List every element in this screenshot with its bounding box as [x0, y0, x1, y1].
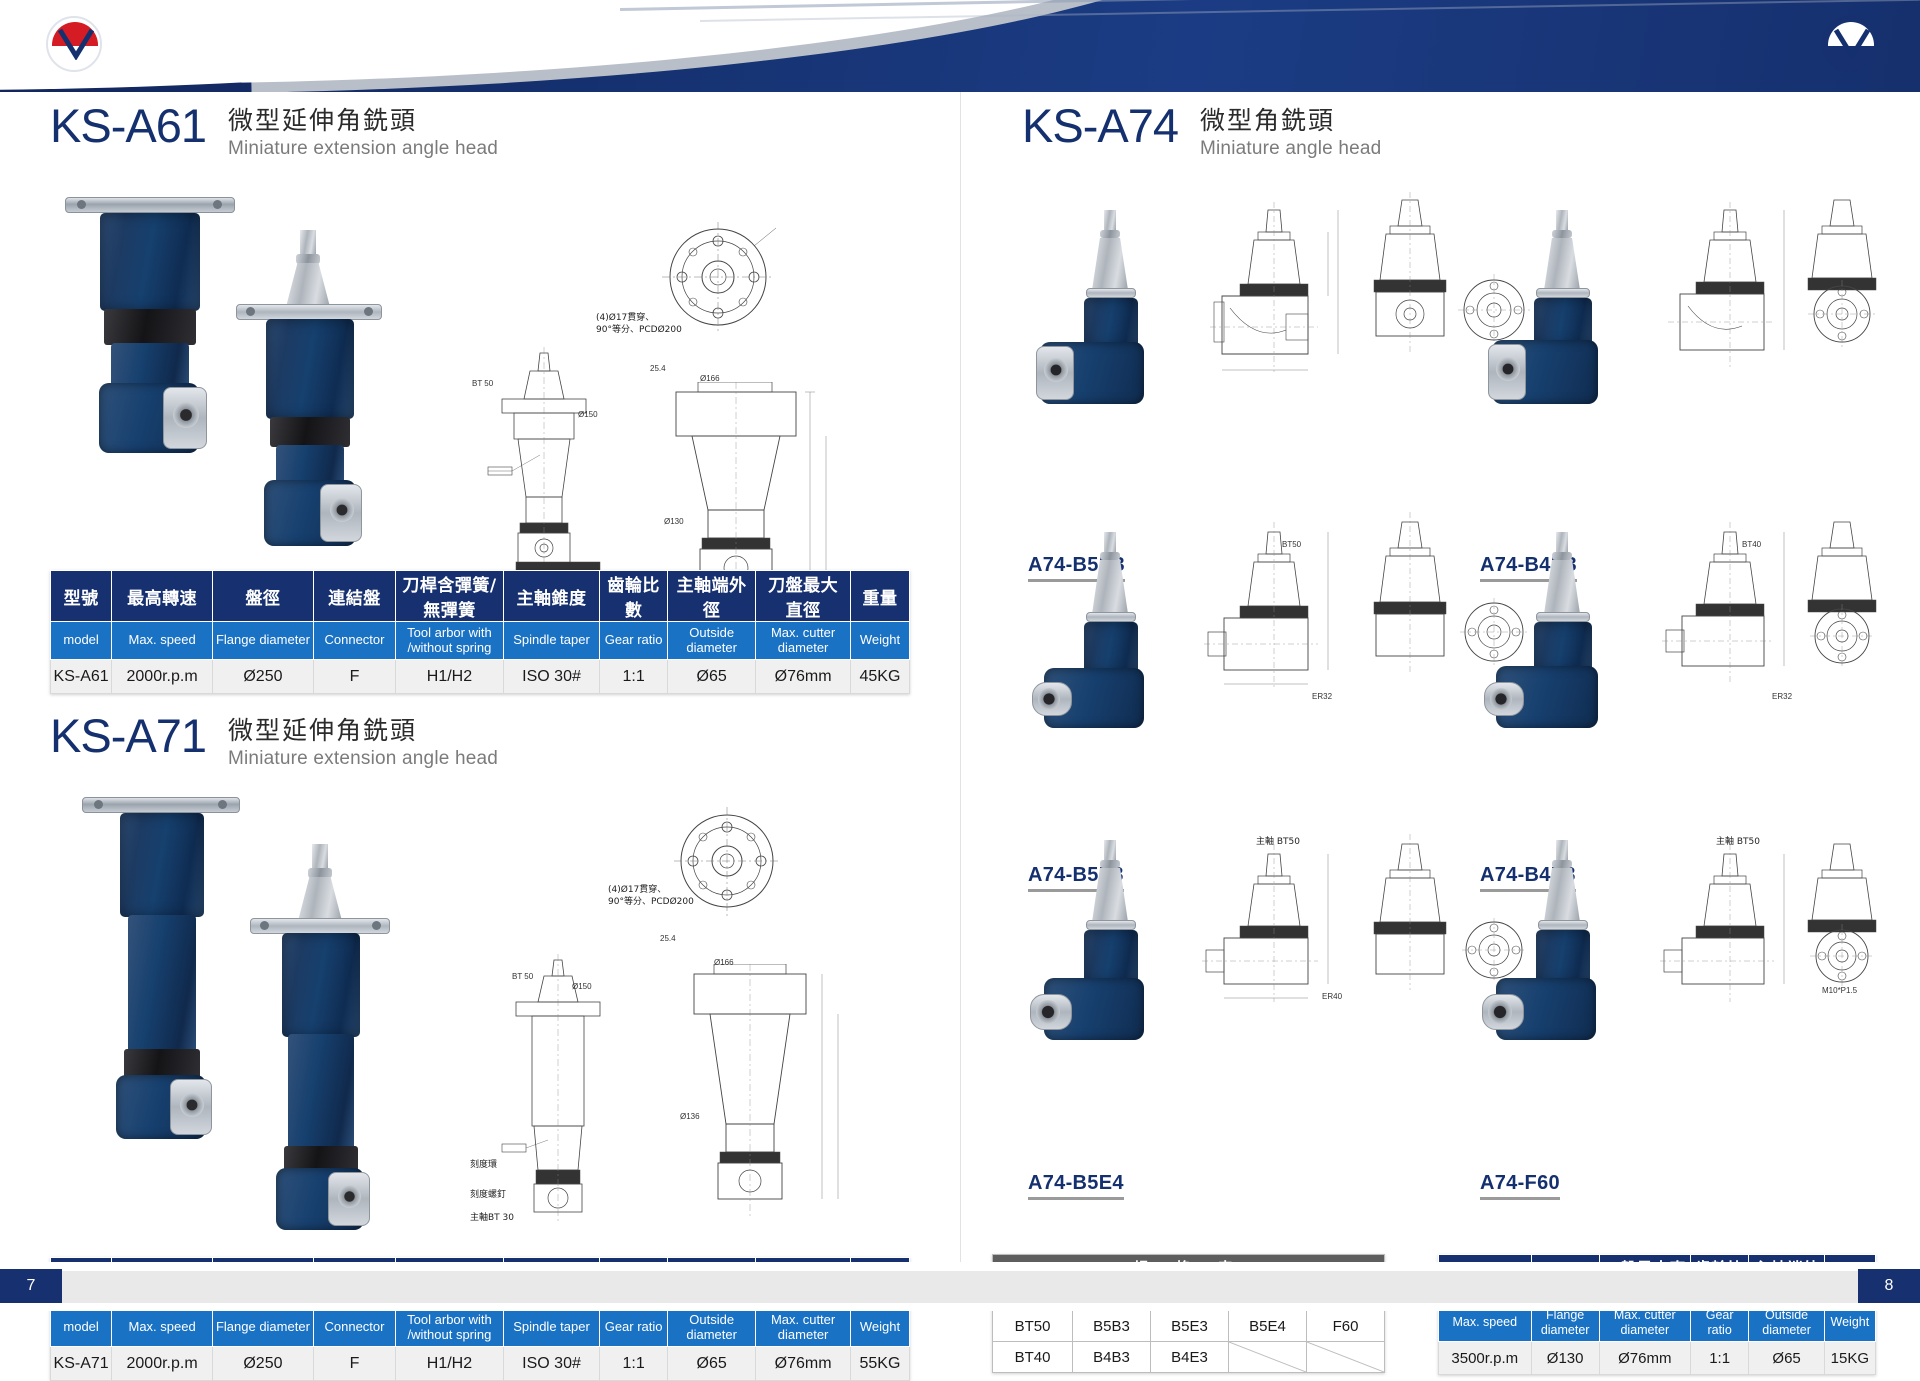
- drawing-a74-f60-dims: [1660, 830, 1800, 1080]
- th-toolarbor-en: Tool arbor with /without spring: [396, 1309, 504, 1347]
- left-page: KS-A61 微型延伸角銑頭 Miniature extension angle…: [0, 92, 960, 1311]
- th-gear-cn: 齒輪比數: [600, 571, 668, 622]
- th-toolarbor-en: Tool arbor with /without spring: [396, 622, 504, 660]
- drawing-a71-elevation: [674, 964, 854, 1239]
- drawing-note-hole-2: 90°等分、PCDØ200: [608, 894, 694, 907]
- td-gear: 1:1: [600, 660, 668, 694]
- td-flange: Ø250: [212, 660, 313, 694]
- product-name-en: Miniature angle head: [1200, 138, 1381, 160]
- th-flange-cn: 盤徑: [212, 571, 313, 622]
- product-name-cn: 微型延伸角銑頭: [228, 105, 498, 136]
- th-flange-en: Flange diameter: [212, 622, 313, 660]
- grid-cell-b4b3: B4B3: [1073, 1342, 1151, 1373]
- th-outside-cn: 主軸端外徑: [668, 571, 756, 622]
- th-flange-en: Flange diameter: [212, 1309, 313, 1347]
- td-cutter: Ø76mm: [756, 1347, 851, 1381]
- drawing-note-main-bt50: 主軸 BT50: [1716, 834, 1760, 847]
- td-weight: 45KG: [850, 660, 909, 694]
- th-taper-en: Spindle taper: [503, 1309, 599, 1347]
- td-cutter: Ø76mm: [1599, 1342, 1690, 1375]
- drawing-a74-b5e3-dims: [1200, 522, 1350, 772]
- grid-row-input-bt50: BT50: [993, 1311, 1073, 1342]
- product-code: KS-A71: [50, 712, 206, 759]
- company-logo: [46, 16, 102, 72]
- page-number-left: 7: [0, 1269, 62, 1303]
- grid-cell-b4e3: B4E3: [1151, 1342, 1229, 1373]
- grid-row-input-bt40: BT40: [993, 1342, 1073, 1373]
- product-name-cn: 微型延伸角銑頭: [228, 715, 498, 746]
- product-name-cn: 微型角銑頭: [1200, 105, 1381, 136]
- model-label-a74-b5e4: A74-B5E4: [1028, 1172, 1124, 1200]
- spec-table-ks-a61: 型號 最高轉速 盤徑 連結盤 刀桿含彈簧/無彈簧 主軸錐度 齒輪比數 主軸端外徑…: [50, 570, 910, 694]
- td-toolarbor: H1/H2: [396, 1347, 504, 1381]
- grid-cell-empty-1: [1229, 1342, 1307, 1373]
- drawing-dim-254: 25.4: [650, 364, 666, 373]
- td-gear: 1:1: [1690, 1342, 1749, 1375]
- drawing-label-bt50: BT50: [1282, 540, 1301, 549]
- td-cutter: Ø76mm: [756, 660, 851, 694]
- drawing-label-bt50: BT 50: [512, 972, 533, 981]
- th-connector-en: Connector: [313, 622, 395, 660]
- product-name-en: Miniature extension angle head: [228, 138, 498, 160]
- th-outside-en: Outside diameter: [668, 622, 756, 660]
- model-photo-a74-b5e4: [1000, 820, 1210, 1100]
- model-photo-a74-b4b3: [1452, 192, 1662, 472]
- th-maxspeed-en: Max. speed: [112, 622, 213, 660]
- model-photo-a74-f60: [1452, 820, 1662, 1100]
- drawing-label-bt40: BT40: [1742, 540, 1761, 549]
- drawing-note-adjust-screw: 刻度螺釘: [470, 1187, 506, 1200]
- model-photo-a74-b4e3: [1452, 512, 1662, 792]
- model-label-a74-f60: A74-F60: [1480, 1172, 1560, 1200]
- td-flange: Ø130: [1531, 1342, 1599, 1375]
- drawing-a71-section: [492, 954, 652, 1244]
- th-cutter-cn: 刀盤最大直徑: [756, 571, 851, 622]
- td-model: KS-A61: [51, 660, 112, 694]
- drawing-a74-b4e3-views: [1798, 512, 1920, 792]
- th-gear-en: Gear ratio: [600, 1309, 668, 1347]
- drawing-label-er32: ER32: [1772, 692, 1792, 701]
- drawing-note-main-bt50: 主軸 BT50: [1256, 834, 1300, 847]
- logo-check-icon: [1833, 26, 1871, 60]
- drawing-a74-b4e3-dims: [1660, 522, 1800, 772]
- th-taper-cn: 主軸錐度: [503, 571, 599, 622]
- table-row: KS-A61 2000r.p.m Ø250 F H1/H2 ISO 30# 1:…: [51, 660, 910, 694]
- product-name-en: Miniature extension angle head: [228, 748, 498, 770]
- right-page: KS-A74 微型角銑頭 Miniature angle head: [960, 92, 1920, 1311]
- th-maxspeed-cn: 最高轉速: [112, 571, 213, 622]
- top-banner: [0, 0, 1920, 92]
- page-number-right: 8: [1858, 1269, 1920, 1303]
- drawing-a74-b5e4-dims: [1200, 830, 1350, 1080]
- th-weight-cn: 重量: [850, 571, 909, 622]
- th-weight-en: Weight: [850, 622, 909, 660]
- drawing-a74-f60-views: [1798, 820, 1920, 1100]
- product-photo-a61-front: [55, 197, 245, 507]
- table-row: KS-A71 2000r.p.m Ø250 F H1/H2 ISO 30# 1:…: [51, 1347, 910, 1381]
- footer-strip: [62, 1271, 1858, 1303]
- td-flange: Ø250: [212, 1347, 313, 1381]
- product-photo-a61-side: [218, 230, 408, 570]
- drawing-note-scale-ring: 刻度環: [470, 1157, 497, 1170]
- td-maxspeed: 2000r.p.m: [112, 1347, 213, 1381]
- table-row: BT40 B4B3 B4E3: [993, 1342, 1385, 1373]
- td-connector: F: [313, 1347, 395, 1381]
- th-gear-en: Gear ratio: [600, 622, 668, 660]
- table-row: 3500r.p.m Ø130 Ø76mm 1:1 Ø65 15KG: [1439, 1342, 1876, 1375]
- drawing-dim-d130: Ø130: [664, 517, 684, 526]
- td-weight: 55KG: [850, 1347, 909, 1381]
- product-photo-a71-side: [232, 844, 422, 1234]
- product-code: KS-A74: [1022, 102, 1178, 149]
- th-model-en: model: [51, 622, 112, 660]
- td-outside: Ø65: [668, 1347, 756, 1381]
- th-connector-cn: 連結盤: [313, 571, 395, 622]
- td-outside: Ø65: [668, 660, 756, 694]
- td-weight: 15KG: [1824, 1342, 1875, 1375]
- table-row: BT50 B5B3 B5E3 B5E4 F60: [993, 1311, 1385, 1342]
- table-header-row-en: model Max. speed Flange diameter Connect…: [51, 622, 910, 660]
- th-model-en: model: [51, 1309, 112, 1347]
- model-photo-a74-b5b3: [1000, 192, 1210, 472]
- model-photo-a74-b5e3: [1000, 512, 1210, 792]
- grid-cell-b5e3: B5E3: [1151, 1311, 1229, 1342]
- product-title-ks-a74: KS-A74 微型角銑頭 Miniature angle head: [1022, 102, 1381, 160]
- drawing-dim-254: 25.4: [660, 934, 676, 943]
- th-cutter-en: Max. cutter diameter: [756, 622, 851, 660]
- drawing-a74-b4b3-views: [1798, 192, 1920, 472]
- th-weight-en: Weight: [850, 1309, 909, 1347]
- td-taper: ISO 30#: [503, 660, 599, 694]
- drawing-dim-d136: Ø136: [680, 1112, 700, 1121]
- footer: 7 8: [0, 1262, 1920, 1311]
- drawing-label-er32: ER32: [1312, 692, 1332, 701]
- th-model-cn: 型號: [51, 571, 112, 622]
- drawing-dim-d166: Ø166: [700, 374, 720, 383]
- th-maxspeed-en: Max. speed: [112, 1309, 213, 1347]
- table-header-row-cn: 型號 最高轉速 盤徑 連結盤 刀桿含彈簧/無彈簧 主軸錐度 齒輪比數 主軸端外徑…: [51, 571, 910, 622]
- td-maxspeed: 3500r.p.m: [1439, 1342, 1532, 1375]
- drawing-dim-d166: Ø166: [714, 958, 734, 967]
- drawing-a74-b4b3-dims: [1660, 202, 1800, 452]
- drawing-label-er40: ER40: [1322, 992, 1342, 1001]
- product-title-ks-a71: KS-A71 微型延伸角銑頭 Miniature extension angle…: [50, 712, 498, 770]
- grid-cell-empty-2: [1307, 1342, 1385, 1373]
- th-outside-en: Outside diameter: [668, 1309, 756, 1347]
- td-toolarbor: H1/H2: [396, 660, 504, 694]
- th-connector-en: Connector: [313, 1309, 395, 1347]
- product-code: KS-A61: [50, 102, 206, 149]
- th-toolarbor-cn: 刀桿含彈簧/無彈簧: [396, 571, 504, 622]
- drawing-dim-d150: Ø150: [572, 982, 592, 991]
- drawing-label-bt50: BT 50: [472, 379, 493, 388]
- th-taper-en: Spindle taper: [503, 622, 599, 660]
- product-title-ks-a61: KS-A61 微型延伸角銑頭 Miniature extension angle…: [50, 102, 498, 160]
- grid-cell-b5b3: B5B3: [1073, 1311, 1151, 1342]
- td-gear: 1:1: [600, 1347, 668, 1381]
- td-maxspeed: 2000r.p.m: [112, 660, 213, 694]
- drawing-a74-b5b3-dims: [1200, 202, 1350, 452]
- company-logo: [1822, 16, 1878, 72]
- drawing-note-spindle-bt30: 主軸BT 30: [470, 1210, 514, 1223]
- td-connector: F: [313, 660, 395, 694]
- th-cutter-en: Max. cutter diameter: [756, 1309, 851, 1347]
- td-outside: Ø65: [1749, 1342, 1824, 1375]
- logo-check-icon: [57, 26, 95, 60]
- grid-cell-b5e4: B5E4: [1229, 1311, 1307, 1342]
- grid-cell-f60: F60: [1307, 1311, 1385, 1342]
- table-header-row-en: model Max. speed Flange diameter Connect…: [51, 1309, 910, 1347]
- td-model: KS-A71: [51, 1347, 112, 1381]
- drawing-note-hole-2: 90°等分、PCDØ200: [596, 322, 682, 335]
- td-taper: ISO 30#: [503, 1347, 599, 1381]
